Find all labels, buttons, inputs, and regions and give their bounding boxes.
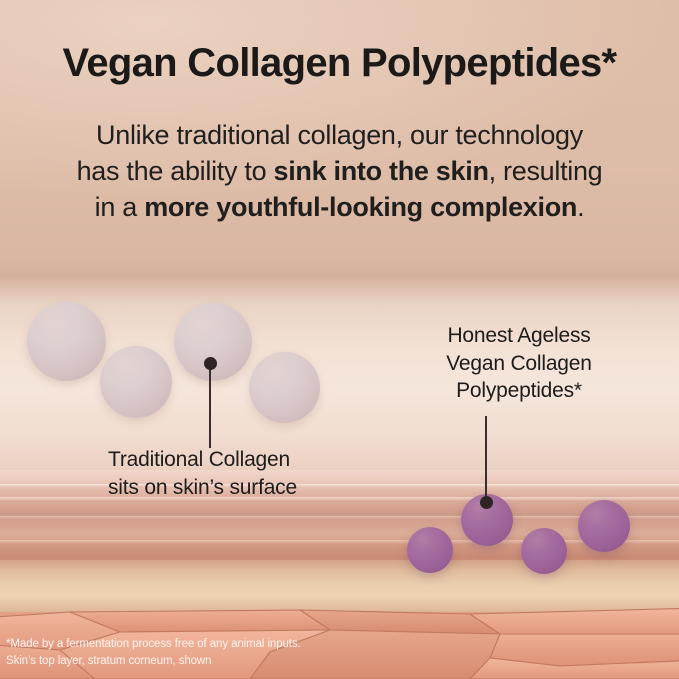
traditional-molecule-1	[27, 302, 106, 381]
callout-vegan-line-1: Honest Ageless	[447, 324, 590, 347]
subtitle-line-2-prefix: has the ability to	[77, 156, 274, 186]
traditional-leader-dot-icon	[204, 357, 217, 370]
subtitle-emphasis-2: more youthful-looking complexion	[144, 192, 577, 222]
traditional-molecule-4	[249, 352, 320, 423]
subtitle-line-2-suffix: , resulting	[489, 156, 603, 186]
subtitle-line-1: Unlike traditional collagen, our technol…	[96, 120, 583, 150]
callout-traditional-collagen: Traditional Collagen sits on skin’s surf…	[108, 446, 368, 501]
footnote-text: *Made by a fermentation process free of …	[6, 636, 436, 669]
footnote-line-1: *Made by a fermentation process free of …	[6, 638, 301, 650]
vegan-molecule-1	[407, 527, 453, 573]
infographic-root: Vegan Collagen Polypeptides* Unlike trad…	[0, 0, 679, 679]
subtitle-emphasis-1: sink into the skin	[274, 156, 489, 186]
footnote-line-2: Skin’s top layer, stratum corneum, shown	[6, 655, 211, 667]
callout-vegan-collagen: Honest Ageless Vegan Collagen Polypeptid…	[404, 322, 634, 405]
subtitle-line-3-prefix: in a	[95, 192, 145, 222]
vegan-leader-line	[485, 416, 487, 502]
vegan-molecule-3	[521, 528, 567, 574]
callout-vegan-line-2: Vegan Collagen	[446, 352, 592, 375]
traditional-leader-line	[209, 364, 211, 448]
vegan-molecule-4	[578, 500, 630, 552]
callout-traditional-line-1: Traditional Collagen	[108, 448, 290, 471]
traditional-molecule-2	[100, 346, 172, 418]
vegan-leader-dot-icon	[480, 496, 493, 509]
page-title: Vegan Collagen Polypeptides*	[0, 40, 679, 87]
subtitle-paragraph: Unlike traditional collagen, our technol…	[40, 118, 639, 226]
callout-traditional-line-2: sits on skin’s surface	[108, 476, 297, 499]
subtitle-line-3-suffix: .	[577, 192, 584, 222]
callout-vegan-line-3: Polypeptides*	[456, 379, 582, 402]
